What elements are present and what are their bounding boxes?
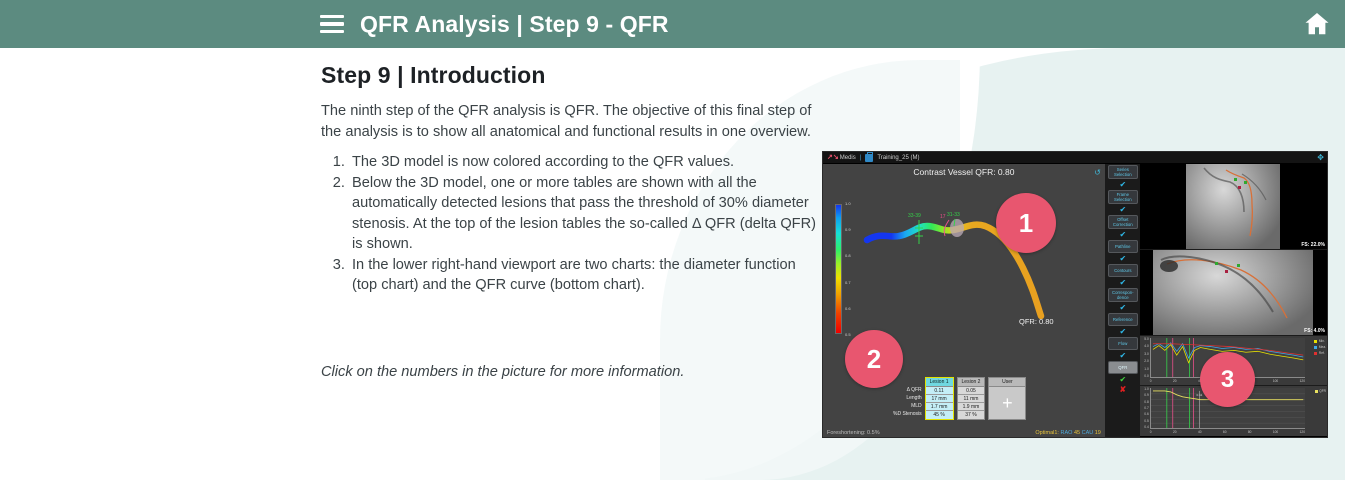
y-tick: 0.9 xyxy=(1140,393,1149,397)
page-title: Step 9 | Introduction xyxy=(321,62,816,89)
y-tick: 0.4 xyxy=(1140,425,1149,429)
close-icon[interactable]: ✘ xyxy=(1119,385,1126,394)
check-icon: ✔ xyxy=(1119,351,1126,360)
x-tick: 20 xyxy=(1173,379,1177,385)
y-tick: 3.0 xyxy=(1140,352,1149,356)
lesion-row-labels: Δ QFR Length MLD %D Stenosis xyxy=(893,377,922,418)
steps-list: The 3D model is now colored according to… xyxy=(321,152,816,296)
optimal-angle-status: Optimal1: RAO 45 CAU 19 xyxy=(1035,430,1100,436)
x-tick: 0 xyxy=(1150,430,1152,436)
medis-logo-icon: ↗↘ xyxy=(827,154,839,161)
app-body: Contrast Vessel QFR: 0.80 ↺ 1.0 0.9 0.8 … xyxy=(823,164,1327,438)
x-tick: 40 xyxy=(1198,430,1202,436)
angiogram-view-1[interactable]: FS: 22.0% xyxy=(1140,164,1327,250)
hint-text: Click on the numbers in the picture for … xyxy=(321,364,684,380)
legend-label: Min. xyxy=(1319,339,1325,343)
legend-swatch-qfr xyxy=(1315,390,1318,393)
lesion-cell: 17 mm xyxy=(926,395,953,403)
vessel-3d-viewport[interactable]: Contrast Vessel QFR: 0.80 ↺ 1.0 0.9 0.8 … xyxy=(823,164,1106,438)
chart2-legend: QFR xyxy=(1315,389,1326,393)
lesion-tag: 17 xyxy=(940,214,946,220)
angiogram-image-1 xyxy=(1186,164,1280,250)
lesion-column-header: Lesion 2 xyxy=(958,378,985,387)
plus-icon[interactable]: + xyxy=(989,387,1025,419)
y-tick: 1.0 xyxy=(1140,387,1149,391)
angiogram-image-2 xyxy=(1153,250,1313,336)
list-item: The 3D model is now colored according to… xyxy=(349,152,816,173)
lesion-column-header: Lesion 1 xyxy=(926,378,953,387)
lesion-column-1[interactable]: Lesion 1 0.11 17 mm 1.7 mm 45 % xyxy=(925,377,954,420)
legend-label: Mea. xyxy=(1319,345,1326,349)
legend-item: Ref. xyxy=(1314,351,1326,355)
x-tick: 100 xyxy=(1273,379,1278,385)
row-label: MLD xyxy=(893,402,922,410)
legend-item: Min. xyxy=(1314,339,1326,343)
legend-swatch-ref xyxy=(1314,352,1317,355)
row-label: Δ QFR xyxy=(893,386,922,394)
sidebar-item-reference[interactable]: Reference xyxy=(1108,313,1138,326)
check-icon: ✔ xyxy=(1119,303,1126,312)
optimal-angle-2: CAU xyxy=(1082,430,1094,436)
x-tick: 60 xyxy=(1223,430,1227,436)
x-tick: 20 xyxy=(1173,430,1177,436)
user-column-header: User xyxy=(989,378,1025,387)
lesion-cell: 0.11 xyxy=(926,387,953,395)
sidebar-item-frame-selection[interactable]: Frame Selection xyxy=(1108,190,1138,204)
legend-label: Ref. xyxy=(1319,351,1325,355)
chart1-legend: Min. Mea. Ref. xyxy=(1314,339,1326,355)
sidebar-item-pathline[interactable]: Pathline xyxy=(1108,240,1138,253)
check-green-icon: ✔ xyxy=(1119,375,1126,384)
check-icon: ✔ xyxy=(1119,205,1126,214)
optimal-value-2: 19 xyxy=(1095,430,1101,436)
case-name: Training_25 (M) xyxy=(877,155,919,161)
embedded-app-screenshot: ↗↘ Medis | Training_25 (M) ✥ Contrast Ve… xyxy=(822,151,1328,438)
sidebar-item-contours[interactable]: Contours xyxy=(1108,264,1138,277)
optimal-angle-1: RAO xyxy=(1060,430,1072,436)
y-tick: 0.6 xyxy=(1140,412,1149,416)
list-item: In the lower right-hand viewport are two… xyxy=(349,255,816,296)
lesion-cell: 45 % xyxy=(926,411,953,419)
lesion-tag: 33-39 xyxy=(908,213,921,219)
x-tick: 80 xyxy=(1248,430,1252,436)
page-root: QFR Analysis | Step 9 - QFR Step 9 | Int… xyxy=(0,0,1345,480)
y-tick: 1.0 xyxy=(1140,367,1149,371)
chart1-y-ticks: 5.0 4.0 3.0 2.0 1.0 0.0 xyxy=(1140,337,1149,378)
hotspot-2[interactable]: 2 xyxy=(845,330,903,388)
y-tick: 0.5 xyxy=(1140,419,1149,423)
qfr-value-label: QFR: 0.80 xyxy=(1019,317,1054,326)
hotspot-1[interactable]: 1 xyxy=(996,193,1056,253)
optimal-value-1: 45 xyxy=(1074,430,1080,436)
lesion-cell: 37 % xyxy=(958,411,985,419)
y-tick: 0.8 xyxy=(1140,400,1149,404)
lesion-cell: 1.7 mm xyxy=(926,403,953,411)
chart2-y-ticks: 1.0 0.9 0.8 0.7 0.6 0.5 0.4 xyxy=(1140,387,1149,429)
y-tick: 2.0 xyxy=(1140,359,1149,363)
medis-wordmark: Medis xyxy=(840,155,856,161)
foreshortening-label-1: FS: 22.0% xyxy=(1301,242,1325,248)
sidebar-item-flow[interactable]: Flow xyxy=(1108,337,1138,350)
legend-label: QFR xyxy=(1319,389,1326,393)
steps-sidebar: Series Selection ✔ Frame Selection ✔ Off… xyxy=(1106,164,1140,438)
sidebar-item-offset-correction[interactable]: Offset Correction xyxy=(1108,215,1138,229)
row-label: Length xyxy=(893,394,922,402)
legend-item: Mea. xyxy=(1314,345,1326,349)
intro-paragraph: The ninth step of the QFR analysis is QF… xyxy=(321,101,816,142)
check-icon: ✔ xyxy=(1119,327,1126,336)
row-label: %D Stenosis xyxy=(893,410,922,418)
x-tick: 100 xyxy=(1273,430,1278,436)
lesion-tables: Δ QFR Length MLD %D Stenosis Lesion 1 0.… xyxy=(893,377,1026,420)
legend-item: QFR xyxy=(1315,389,1326,393)
lesion-cell: 11 mm xyxy=(958,395,985,403)
sidebar-item-correspondence[interactable]: Correspon-dence xyxy=(1108,288,1138,302)
y-tick: 4.0 xyxy=(1140,344,1149,348)
hamburger-icon[interactable] xyxy=(320,15,344,33)
app-titlebar: ↗↘ Medis | Training_25 (M) ✥ xyxy=(823,152,1327,164)
titlebar-separator: | xyxy=(860,155,862,161)
lesion-cell: 0.05 xyxy=(958,387,985,395)
check-icon: ✔ xyxy=(1119,278,1126,287)
home-icon[interactable] xyxy=(1301,9,1333,39)
check-icon: ✔ xyxy=(1119,254,1126,263)
foreshortening-status: Foreshortening: 0.5% xyxy=(827,430,880,436)
optimal-prefix: Optimal1: xyxy=(1035,430,1059,436)
article: Step 9 | Introduction The ninth step of … xyxy=(321,62,816,296)
x-tick: 0 xyxy=(1150,379,1152,385)
lesion-cell: 1.9 mm xyxy=(958,403,985,411)
user-lesion-column[interactable]: User + xyxy=(988,377,1026,420)
sidebar-item-series-selection[interactable]: Series Selection xyxy=(1108,165,1138,179)
foreshortening-label-2: FS: 4.0% xyxy=(1304,328,1325,334)
angiogram-view-2[interactable]: FS: 4.0% xyxy=(1140,250,1327,336)
sidebar-item-qfr[interactable]: QFR xyxy=(1108,361,1138,374)
x-tick: 120 xyxy=(1300,379,1305,385)
hotspot-3[interactable]: 3 xyxy=(1200,352,1255,407)
lesion-tag: 31-33 xyxy=(947,212,960,218)
svg-text:0.11: 0.11 xyxy=(1196,393,1202,397)
app-header: QFR Analysis | Step 9 - QFR xyxy=(0,0,1345,48)
y-tick: 5.0 xyxy=(1140,337,1149,341)
expand-icon[interactable]: ✥ xyxy=(1317,154,1324,162)
case-icon xyxy=(865,154,873,162)
y-tick: 0.0 xyxy=(1140,374,1149,378)
lesion-column-2[interactable]: Lesion 2 0.05 11 mm 1.9 mm 37 % xyxy=(957,377,986,420)
list-item: Below the 3D model, one or more tables a… xyxy=(349,173,816,255)
x-tick: 120 xyxy=(1300,430,1305,436)
chart2-x-ticks: 0 20 40 60 80 100 120 xyxy=(1150,430,1305,436)
check-icon: ✔ xyxy=(1119,230,1126,239)
check-icon: ✔ xyxy=(1119,180,1126,189)
y-tick: 0.7 xyxy=(1140,406,1149,410)
legend-swatch-min xyxy=(1314,340,1317,343)
legend-swatch-mean xyxy=(1314,346,1317,349)
header-title: QFR Analysis | Step 9 - QFR xyxy=(360,11,669,38)
